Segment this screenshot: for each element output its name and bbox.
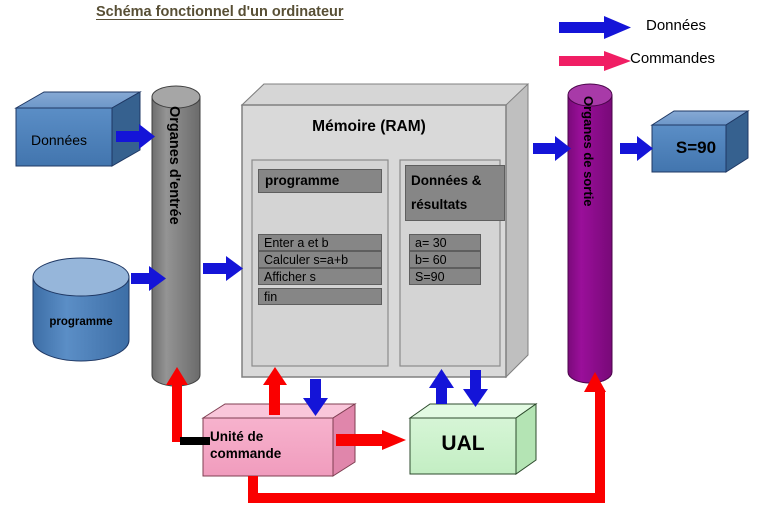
legend-command-arrow-icon — [559, 51, 631, 71]
diagram-canvas: Schéma fonctionnel d'un ordinateur Donné… — [0, 0, 779, 512]
memory-program-line: fin — [258, 288, 382, 305]
memory-program-panel-header: programme — [258, 169, 382, 193]
memory-data-line: b= 60 — [409, 251, 481, 268]
arrow-output-to-result — [620, 136, 653, 161]
node-output-result-box — [652, 111, 748, 172]
diagram-graphics — [0, 0, 779, 512]
memory-data-panel-header: Données & résultats — [405, 165, 505, 221]
node-program-cylinder — [33, 258, 129, 361]
node-alu-box — [410, 404, 536, 474]
arrow-input-to-memory — [203, 256, 243, 281]
memory-data-line: a= 30 — [409, 234, 481, 251]
memory-program-line: Enter a et b — [258, 234, 382, 251]
node-memory-box — [242, 84, 528, 377]
label-input-unit: Organes d'entrée — [166, 106, 182, 225]
legend-data-arrow-icon — [559, 16, 631, 39]
label-output-unit: Organes de sortie — [581, 96, 596, 207]
memory-program-line: Afficher s — [258, 268, 382, 285]
arrow-memory-to-output — [533, 136, 571, 161]
memory-data-line: S=90 — [409, 268, 481, 285]
memory-program-line: Calculer s=a+b — [258, 251, 382, 268]
node-input-data-box — [16, 92, 140, 166]
